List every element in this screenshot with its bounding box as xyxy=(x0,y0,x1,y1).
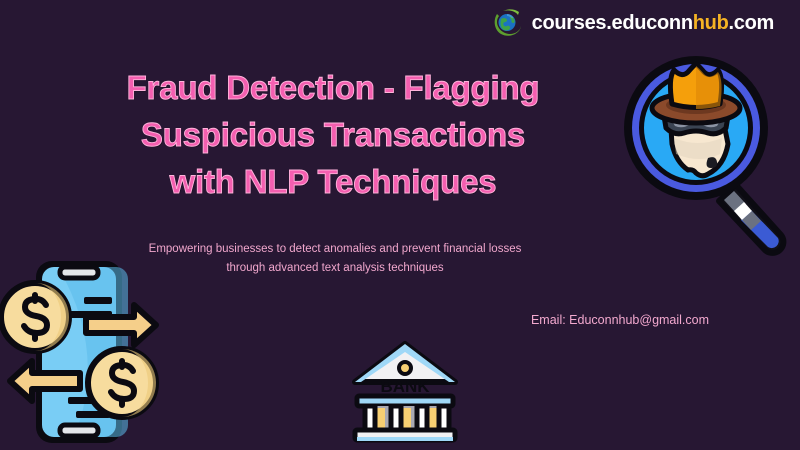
brand-accent: hub xyxy=(693,12,729,34)
bank-label: BANK xyxy=(380,377,430,396)
mobile-money-transfer-icon xyxy=(0,255,188,450)
brand-suffix: .com xyxy=(729,12,774,34)
bank-building-icon: BANK xyxy=(345,338,465,446)
contact-email[interactable]: Email: Educonnhub@gmail.com xyxy=(470,313,770,327)
brand-prefix: courses.educonn xyxy=(532,12,693,34)
magnifier-handle xyxy=(719,185,783,253)
dollar-coin-icon-1 xyxy=(1,283,69,351)
page-title: Fraud Detection - Flagging Suspicious Tr… xyxy=(78,64,588,205)
brand-domain-text: courses.educonnhub.com xyxy=(532,12,774,35)
title-line-1: Fraud Detection - Flagging xyxy=(78,64,588,111)
globe-icon xyxy=(492,7,524,39)
title-line-2: Suspicious Transactions xyxy=(78,111,588,158)
detective-magnifier-icon xyxy=(618,52,798,257)
poster-canvas: courses.educonnhub.com Fraud Detection -… xyxy=(0,0,800,450)
brand-header[interactable]: courses.educonnhub.com xyxy=(492,7,774,39)
dollar-coin-icon-2 xyxy=(88,349,156,417)
title-line-3: with NLP Techniques xyxy=(78,158,588,205)
